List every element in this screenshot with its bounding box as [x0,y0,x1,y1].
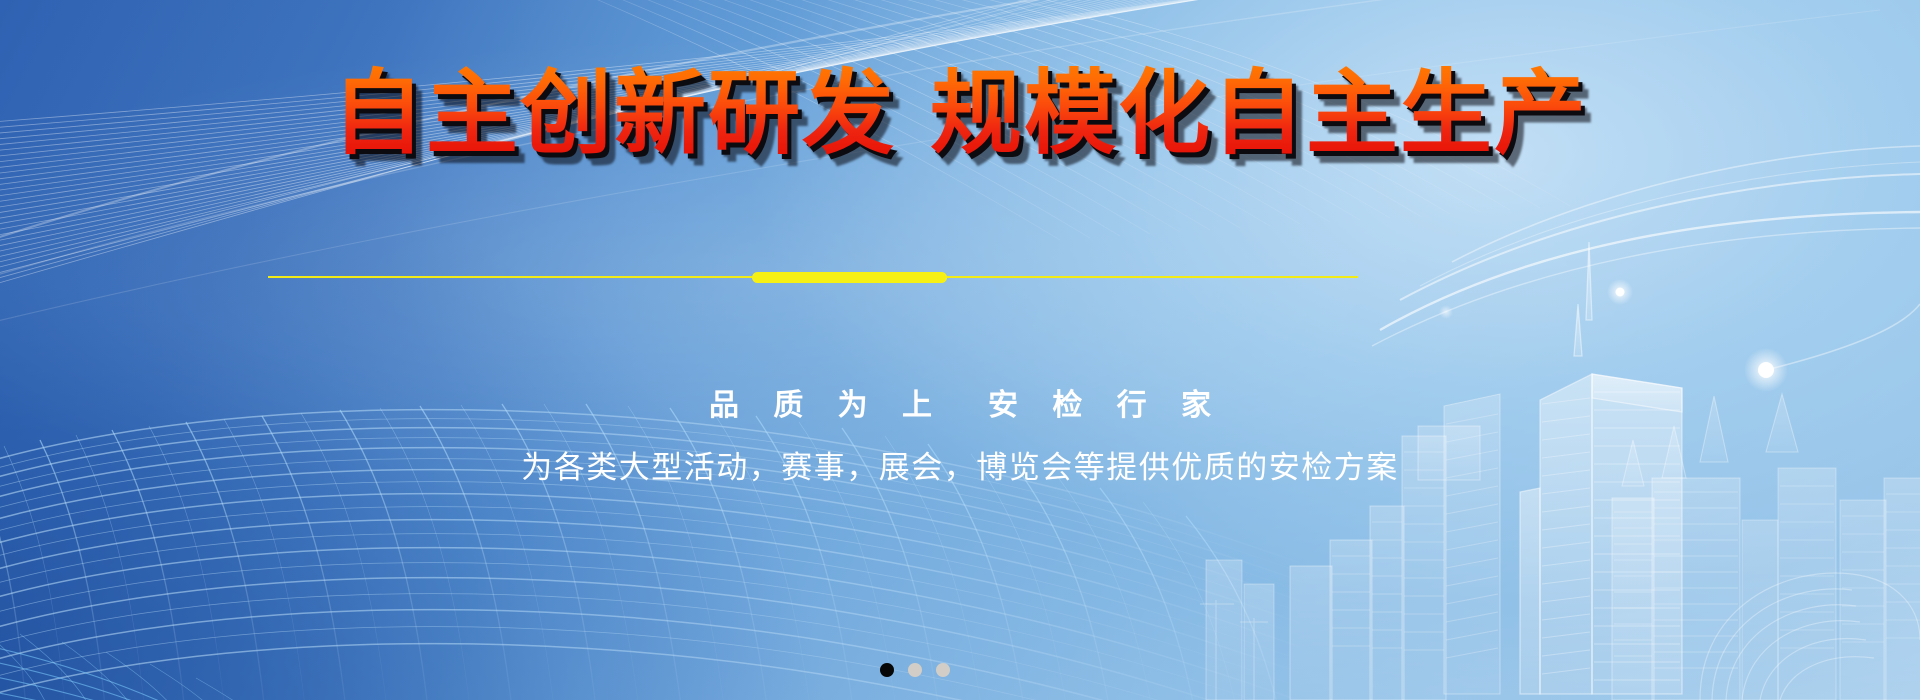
subtitle-primary: 品 质 为 上 安 检 行 家 [0,386,1920,427]
subtitle-secondary: 为各类大型活动，赛事，展会，博览会等提供优质的安检方案 [0,447,1920,489]
carousel-dot-2[interactable] [908,663,922,677]
carousel-dot-1[interactable] [880,663,894,677]
subtitle-container: 品 质 为 上 安 检 行 家 为各类大型活动，赛事，展会，博览会等提供优质的安… [0,386,1920,488]
carousel-pagination[interactable] [880,663,950,677]
page-title: 自主创新研发 规模化自主生产 [332,62,1588,167]
yellow-divider [268,272,1358,283]
carousel-dot-3[interactable] [936,663,950,677]
hero-banner: 自主创新研发 规模化自主生产 品 质 为 上 安 检 行 家 为各类大型活动，赛… [0,0,1920,700]
orbit-glow-nodes [1439,279,1788,392]
headline-container: 自主创新研发 规模化自主生产 [0,62,1920,167]
divider-thick-segment [752,272,947,283]
